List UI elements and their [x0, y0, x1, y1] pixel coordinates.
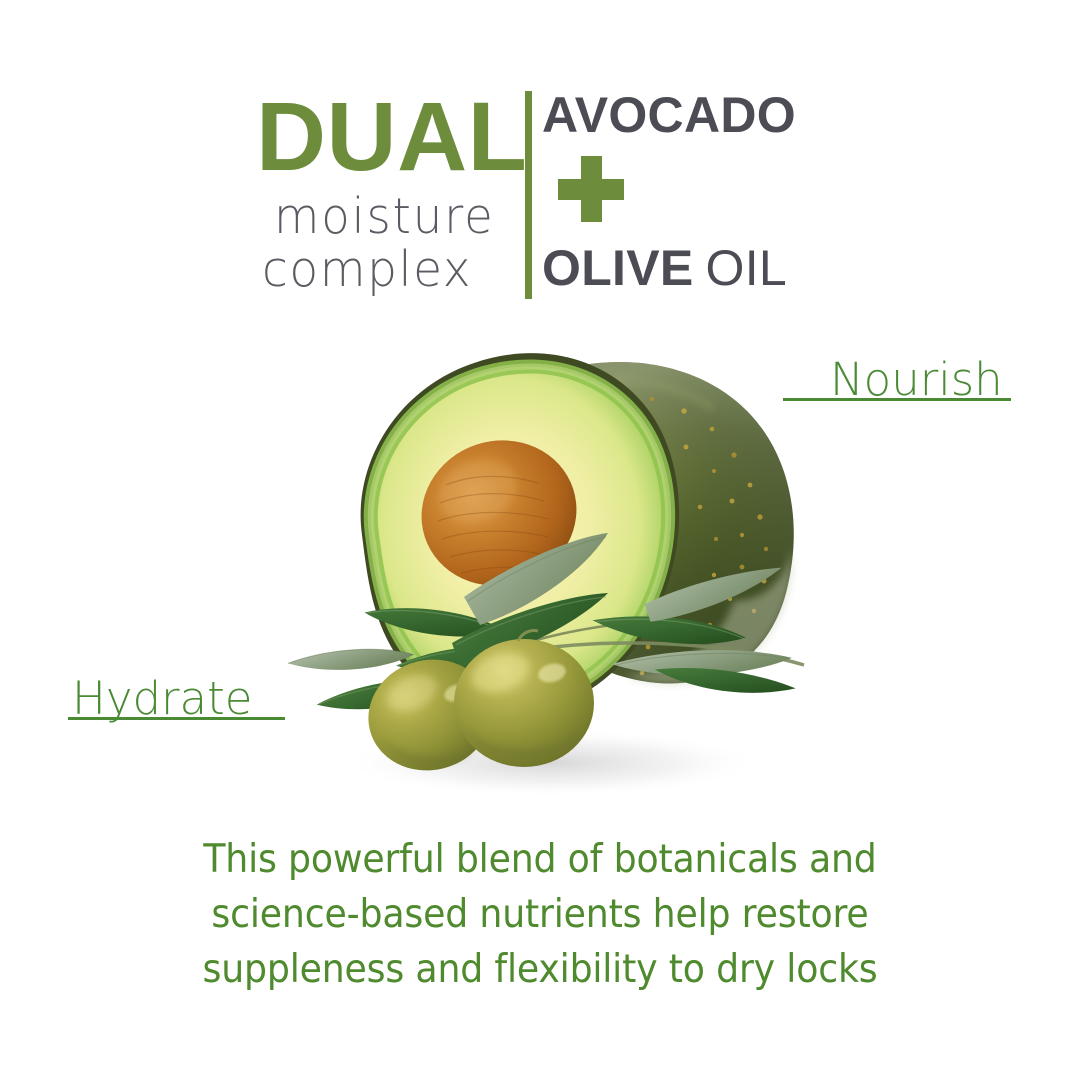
plus-icon	[558, 156, 624, 222]
logo-word-moisture: moisture	[274, 192, 495, 241]
body-copy-line-2: science-based nutrients help restore	[103, 887, 977, 942]
product-feature-panel: DUAL moisture complex AVOCADO OLIVEOIL	[0, 0, 1080, 1083]
logo-olive-oil-line: OLIVEOIL	[542, 243, 787, 293]
plus-icon-vertical-bar	[581, 156, 602, 222]
callout-hydrate-underline	[68, 717, 285, 720]
callout-nourish: Nourish	[830, 357, 1003, 402]
body-copy-line-3: suppleness and flexibility to dry locks	[103, 942, 977, 997]
logo-left-column: DUAL moisture complex	[256, 88, 518, 303]
logo-word-complex: complex	[262, 245, 472, 294]
body-copy-line-1: This powerful blend of botanicals and	[103, 832, 977, 887]
body-copy: This powerful blend of botanicals and sc…	[70, 832, 1010, 997]
logo-word-oil: OIL	[706, 240, 788, 296]
logo-vertical-divider	[525, 91, 532, 299]
produce-illustration	[256, 325, 826, 815]
logo-word-dual: DUAL	[256, 88, 527, 185]
avocado-olive-photo	[256, 325, 826, 815]
dual-moisture-complex-logo: DUAL moisture complex AVOCADO OLIVEOIL	[256, 88, 786, 303]
logo-word-avocado: AVOCADO	[542, 90, 796, 140]
callout-nourish-underline	[783, 398, 1011, 401]
logo-right-column: AVOCADO OLIVEOIL	[542, 88, 788, 303]
callout-hydrate: Hydrate	[72, 676, 252, 721]
logo-word-olive: OLIVE	[542, 240, 694, 296]
